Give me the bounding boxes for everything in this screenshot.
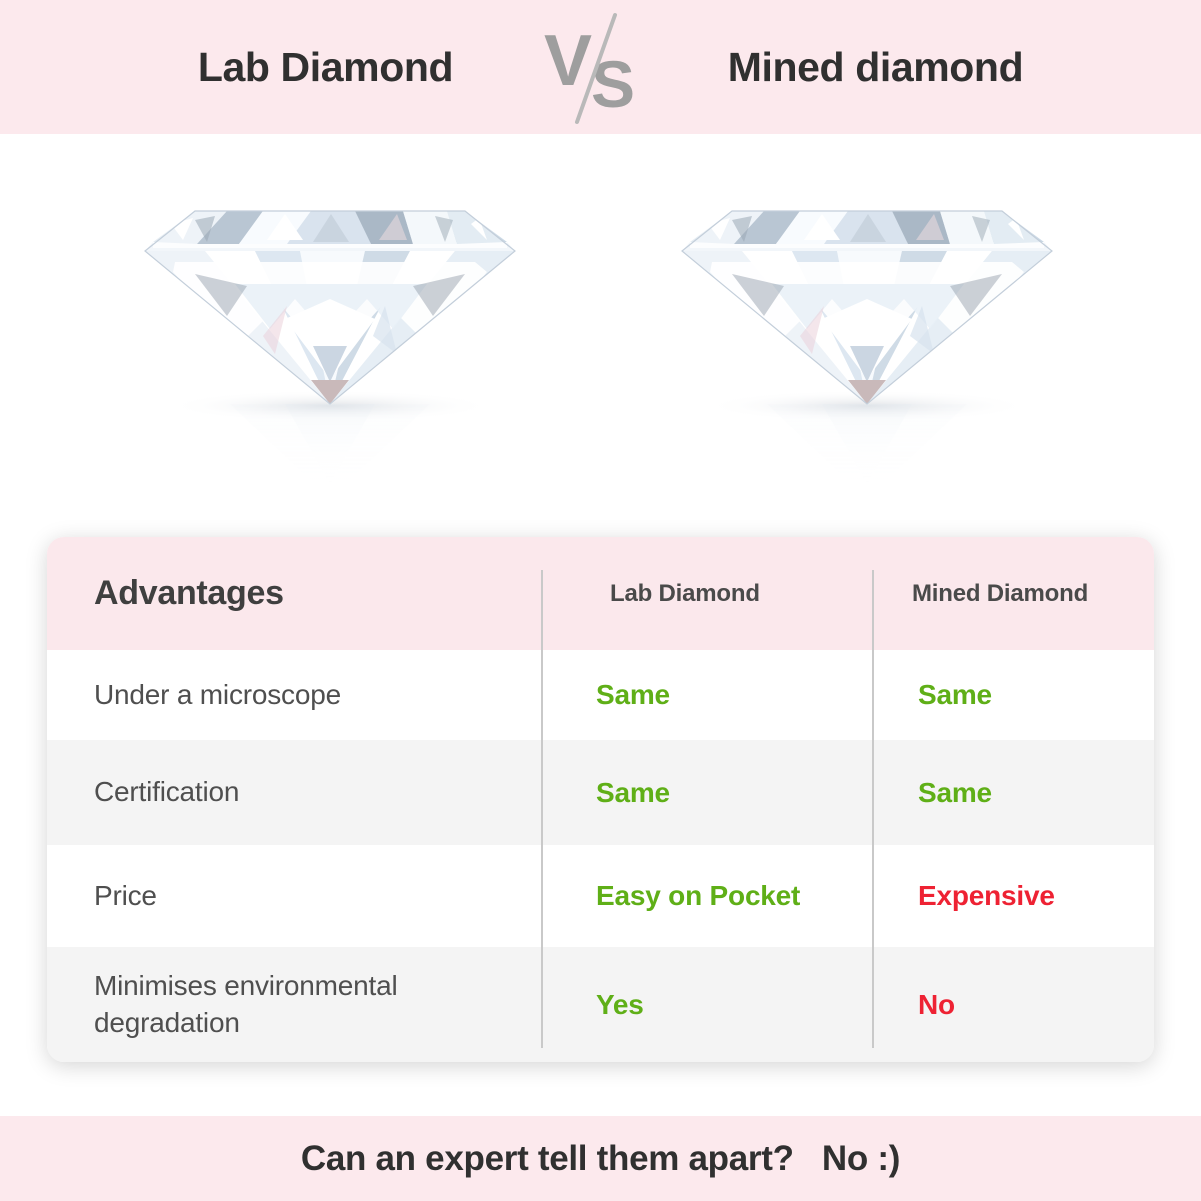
column-divider-2 [872,570,874,1048]
table-header-row: Advantages Lab Diamond Mined Diamond [47,537,1154,650]
row-feature-label: Price [47,845,541,947]
value-text: Easy on Pocket [596,880,800,912]
table-row: Price Easy on Pocket Expensive [47,845,1154,947]
row-mined-value: Same [872,740,1154,845]
row-mined-value: Same [872,650,1154,740]
mined-diamond-image [672,154,1062,514]
row-lab-value: Same [541,650,872,740]
row-feature-label: Certification [47,740,541,845]
diamond-stage [0,134,1201,534]
row-feature-label: Minimises environmental degradation [47,947,541,1062]
footer-band: Can an expert tell them apart? No :) [0,1116,1201,1201]
vs-icon: V S [541,7,661,127]
row-lab-value: Easy on Pocket [541,845,872,947]
value-text: Same [918,679,992,711]
value-text: Same [596,777,670,809]
header-band: Lab Diamond V S Mined diamond [0,0,1201,134]
row-mined-value: No [872,947,1154,1062]
value-text: No [918,989,955,1021]
value-text: Expensive [918,880,1055,912]
header-cell-mined-diamond: Mined Diamond [872,537,1154,650]
lab-diamond-image [135,154,525,514]
infographic-page: Lab Diamond V S Mined diamond [0,0,1201,1201]
table-row: Certification Same Same [47,740,1154,845]
value-text: Yes [596,989,644,1021]
value-text: Same [918,777,992,809]
row-mined-value: Expensive [872,845,1154,947]
header-cell-advantages: Advantages [47,537,541,650]
comparison-card: Advantages Lab Diamond Mined Diamond Und… [47,537,1154,1062]
header-cell-lab-diamond: Lab Diamond [541,537,872,650]
table-row: Minimises environmental degradation Yes … [47,947,1154,1062]
row-lab-value: Same [541,740,872,845]
row-feature-label: Under a microscope [47,650,541,740]
footer-question: Can an expert tell them apart? No :) [301,1139,900,1179]
svg-text:V: V [543,21,591,101]
column-divider-1 [541,570,543,1048]
table-row: Under a microscope Same Same [47,650,1154,740]
comparison-table: Advantages Lab Diamond Mined Diamond Und… [47,537,1154,1062]
header-right-title: Mined diamond [661,44,1091,91]
header-left-title: Lab Diamond [111,44,541,91]
value-text: Same [596,679,670,711]
row-lab-value: Yes [541,947,872,1062]
